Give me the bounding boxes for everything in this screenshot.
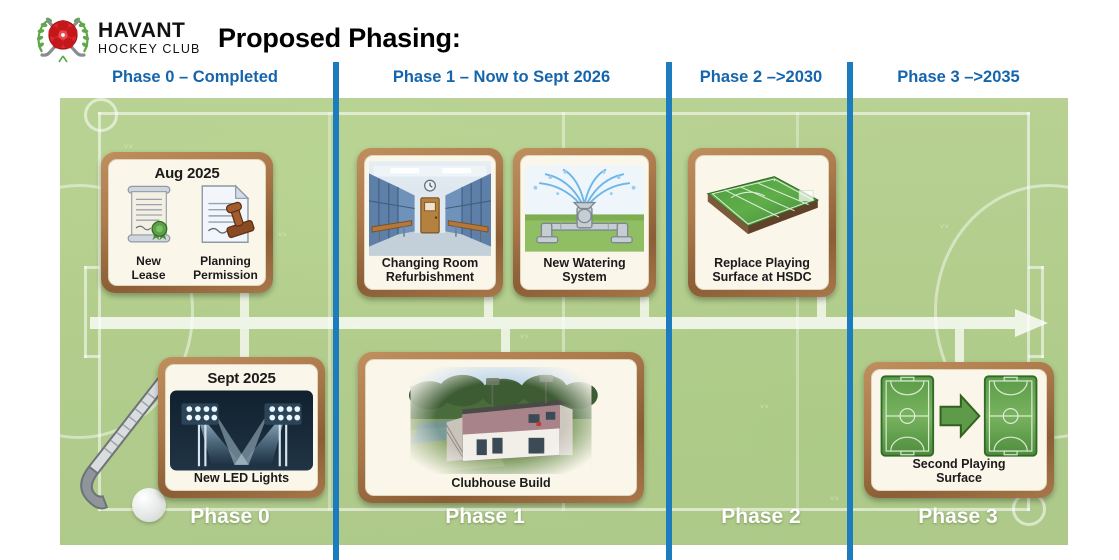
phase-header-1: Phase 1 – Now to Sept 2026 [339, 68, 664, 87]
card-inner: Changing RoomRefurbishment [364, 155, 496, 290]
phase-card-bottom-0[interactable]: Sept 2025 [158, 357, 325, 498]
sprinkler-icon [525, 161, 644, 256]
page-title: Proposed Phasing: [218, 23, 461, 54]
clubhouse-photo-icon [370, 365, 632, 476]
phase-header-3: Phase 3 –>2035 [856, 68, 1061, 87]
card-inner: Second PlayingSurface [871, 369, 1047, 491]
phase-footer-3: Phase 3 [858, 505, 1058, 529]
phase-card-top-1[interactable]: Changing RoomRefurbishment [357, 148, 503, 297]
phase-header-0: Phase 0 – Completed [60, 68, 330, 87]
card-stem [955, 329, 964, 362]
logo-club-sub: HOCKEY CLUB [98, 43, 201, 56]
card-subitem-label: NewLease [131, 255, 165, 283]
card-date: Aug 2025 [154, 165, 219, 182]
phase-footer-2: Phase 2 [676, 505, 846, 529]
card-inner: Clubhouse Build [365, 359, 637, 496]
phase-divider-1 [666, 62, 672, 560]
card-inner: Replace PlayingSurface at HSDC [695, 155, 829, 290]
card-subitem: PlanningPermission [190, 182, 261, 283]
card-subitem-label: PlanningPermission [193, 255, 258, 283]
phase-divider-2 [847, 62, 853, 560]
phase-footer-0: Phase 0 [120, 505, 340, 529]
club-logo: HAVANT HOCKEY CLUB [34, 12, 214, 64]
phase-footer-1: Phase 1 [345, 505, 625, 529]
phase-card-top-3[interactable]: Replace PlayingSurface at HSDC [688, 148, 836, 297]
phase-card-top-2[interactable]: New WateringSystem [513, 148, 656, 297]
card-inner: Sept 2025 [165, 364, 318, 491]
phase-card-bottom-2[interactable]: Second PlayingSurface [864, 362, 1054, 498]
stamped-document-icon [197, 182, 255, 253]
card-stem [484, 297, 493, 317]
lease-and-permission-icon: NewLease PlanningPermission [113, 184, 261, 281]
card-inner: New WateringSystem [520, 155, 649, 290]
locker-room-icon [369, 161, 491, 256]
phase-header-2: Phase 2 –>2030 [675, 68, 847, 87]
card-stem [640, 297, 649, 317]
card-inner: Aug 2025 NewLease PlanningPermission [108, 159, 266, 286]
two-pitches-arrow-icon [876, 375, 1042, 457]
scroll-seal-icon [123, 182, 175, 253]
floodlights-icon [170, 389, 313, 471]
pitch-3d-icon [700, 161, 824, 256]
card-label: Clubhouse Build [451, 476, 550, 491]
rose-crest-icon [34, 12, 92, 64]
card-stem [817, 297, 826, 317]
card-stem [240, 293, 249, 317]
phase-card-top-0[interactable]: Aug 2025 NewLease PlanningPermission [101, 152, 273, 293]
timeline-arrow-icon [90, 308, 1050, 338]
logo-wordmark: HAVANT HOCKEY CLUB [98, 20, 201, 56]
phase-card-bottom-1[interactable]: Clubhouse Build [358, 352, 644, 503]
card-date: Sept 2025 [207, 370, 275, 387]
card-stem [240, 329, 249, 357]
card-subitem: NewLease [113, 182, 184, 283]
phase-divider-0 [333, 62, 339, 560]
logo-club-name: HAVANT [98, 20, 201, 41]
card-stem [501, 329, 510, 352]
